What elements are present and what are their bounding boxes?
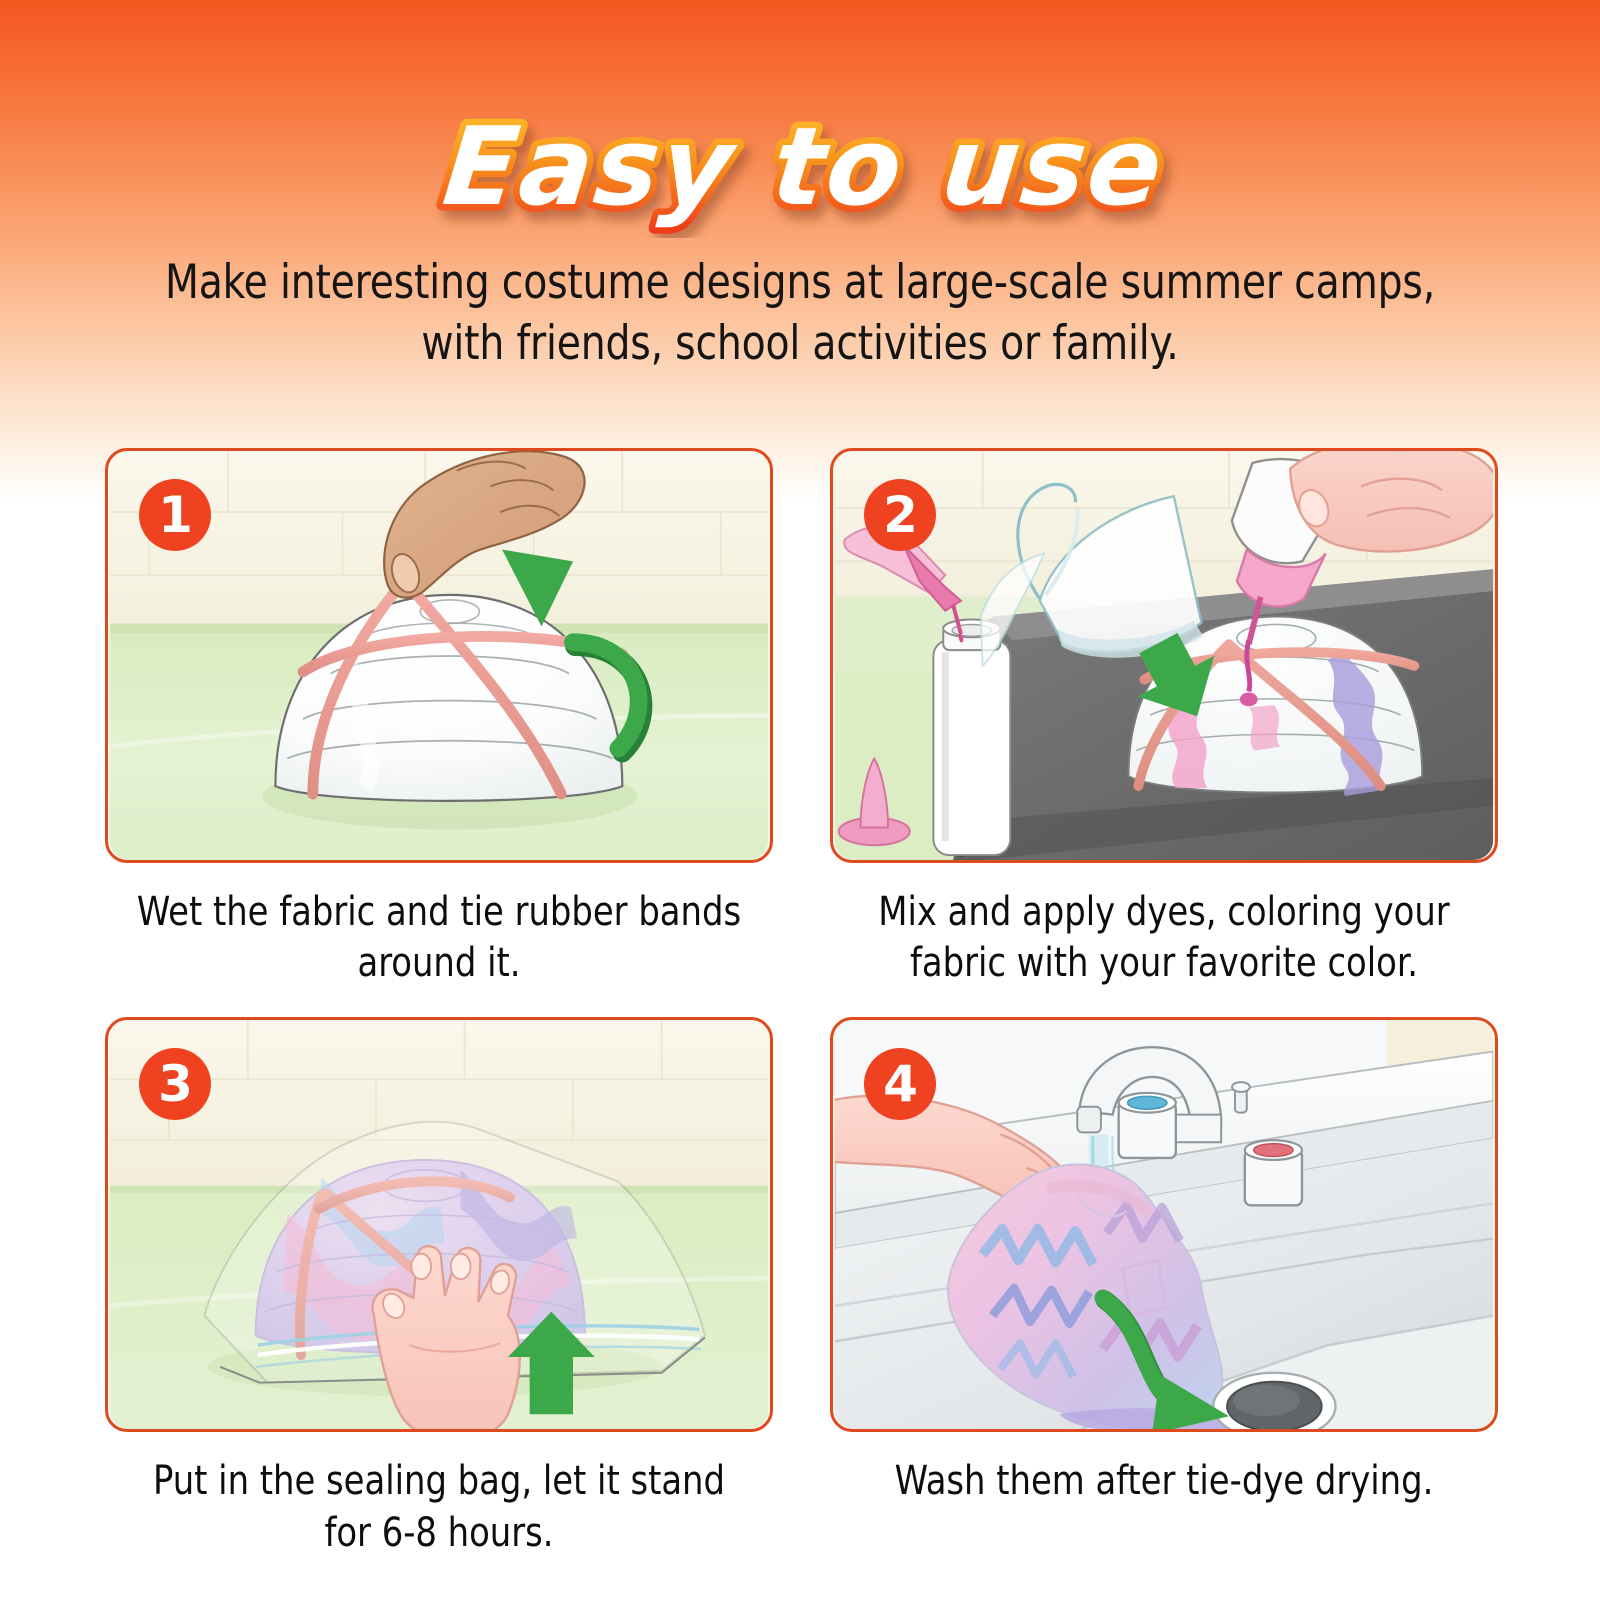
step-3-illustration[interactable]: 3 bbox=[105, 1017, 773, 1432]
drain bbox=[1213, 1373, 1335, 1429]
page-title: Easy to use bbox=[0, 108, 1600, 238]
step-1-badge: 1 bbox=[139, 479, 211, 551]
step-4-caption: Wash them after tie-dye drying. bbox=[850, 1456, 1478, 1507]
row-gap bbox=[105, 989, 1495, 1017]
step-3-badge: 3 bbox=[139, 1048, 211, 1120]
step-4: 4 Wash them after tie-dye drying. bbox=[830, 1017, 1498, 1558]
step-1-illustration[interactable]: 1 bbox=[105, 448, 773, 863]
steps-grid: 1 Wet the fabric and tie rubber bands ar… bbox=[105, 448, 1495, 1559]
step-2-illustration[interactable]: 2 bbox=[830, 448, 1498, 863]
step-2: 2 Mix and apply dyes, coloring your fabr… bbox=[830, 448, 1498, 989]
hand-right bbox=[1290, 451, 1495, 552]
header-subtitle: Make interesting costume designs at larg… bbox=[149, 252, 1451, 374]
step-4-illustration[interactable]: 4 bbox=[830, 1017, 1498, 1432]
dye-drip bbox=[1247, 640, 1250, 691]
step-2-badge: 2 bbox=[864, 479, 936, 551]
step-3-caption: Put in the sealing bag, let it stand for… bbox=[125, 1456, 753, 1558]
title-text: Easy to use bbox=[438, 108, 1170, 230]
steps-row-top: 1 Wet the fabric and tie rubber bands ar… bbox=[105, 448, 1495, 989]
step-3: 3 Put in the sealing bag, let it stand f… bbox=[105, 1017, 773, 1558]
step-2-caption: Mix and apply dyes, coloring your fabric… bbox=[850, 887, 1478, 989]
hot-handle[interactable] bbox=[1245, 1141, 1302, 1206]
step-4-badge: 4 bbox=[864, 1048, 936, 1120]
step-1-caption: Wet the fabric and tie rubber bands arou… bbox=[125, 887, 753, 989]
cold-handle[interactable] bbox=[1119, 1093, 1176, 1158]
step-1: 1 Wet the fabric and tie rubber bands ar… bbox=[105, 448, 773, 989]
squeeze-bottle bbox=[933, 620, 1010, 856]
steps-row-bottom: 3 Put in the sealing bag, let it stand f… bbox=[105, 1017, 1495, 1558]
